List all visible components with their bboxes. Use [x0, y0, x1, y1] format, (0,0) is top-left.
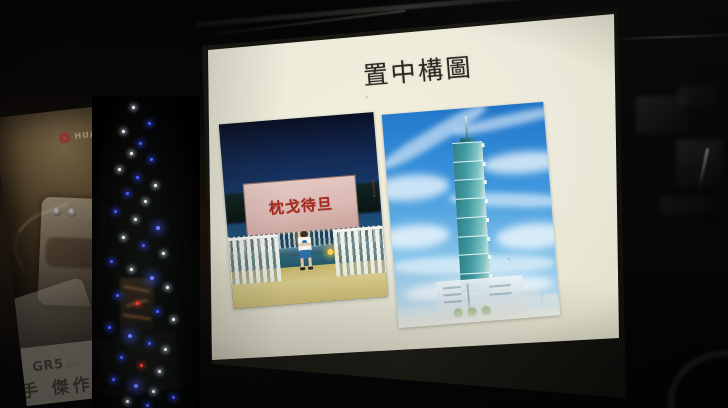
projection-screen-area: 置中構圖 枕戈待旦 民族精神堡壘	[190, 0, 630, 408]
tree-led	[148, 122, 151, 125]
screen-dust-speck	[366, 96, 368, 98]
screen-glare-spot	[550, 130, 552, 132]
tree-led	[108, 326, 111, 329]
tree-led	[152, 390, 155, 393]
tower-segment	[452, 141, 483, 161]
tree-led	[126, 400, 129, 403]
tree-led	[158, 370, 161, 373]
tree-led	[139, 142, 142, 145]
tower-segment	[458, 235, 489, 255]
person-shoe	[300, 267, 305, 270]
stone-balustrade-left	[225, 234, 281, 285]
tower-segment	[457, 216, 488, 236]
cloud	[382, 222, 451, 252]
tower-segment	[453, 160, 484, 180]
tree-led	[172, 396, 175, 399]
page-title: 置中構圖	[307, 43, 529, 97]
tree-led	[128, 334, 132, 338]
tree-led	[130, 152, 133, 155]
tree-led	[142, 244, 145, 247]
tree-led	[136, 302, 139, 305]
tree-led	[150, 158, 153, 161]
tree-led	[150, 276, 154, 280]
tree-led	[118, 168, 121, 171]
tree-led	[134, 384, 138, 388]
tree-led	[134, 218, 137, 221]
stone-balustrade-right	[333, 225, 388, 276]
tree-led	[122, 130, 125, 133]
cloud	[382, 172, 451, 204]
tower-segment	[456, 197, 487, 217]
tower-segment	[455, 179, 486, 199]
photo-scene: HUAWEI GR5 2017 手 傑作在手	[0, 0, 728, 408]
tree-led	[122, 236, 125, 239]
tree-led	[148, 342, 151, 345]
tree-led	[130, 268, 133, 271]
person-shoe	[308, 266, 313, 269]
tree-led	[140, 364, 143, 367]
tree-led	[132, 106, 135, 109]
huawei-flower-icon	[58, 131, 71, 143]
tree-led	[110, 260, 113, 263]
camera-lens-icon	[52, 207, 61, 216]
tree-led	[126, 192, 129, 195]
sign-text: 枕戈待旦	[268, 193, 333, 219]
tree-led	[162, 252, 165, 255]
tree-led	[156, 226, 160, 230]
tree-led	[112, 378, 115, 381]
tree-led	[114, 210, 117, 213]
tree-led	[164, 348, 167, 351]
cloud	[495, 220, 560, 252]
tree-led	[146, 404, 149, 407]
photo-centered-person: 枕戈待旦 民族精神堡壘	[219, 112, 388, 309]
tree-led	[136, 176, 139, 179]
tree-led	[154, 184, 157, 187]
background-object-4	[660, 196, 724, 214]
background-object-2	[678, 86, 718, 106]
tree-led	[144, 200, 147, 203]
photo-taipei-101	[382, 102, 561, 328]
tree-led	[120, 356, 123, 359]
tree-led	[156, 310, 159, 313]
tree-led	[116, 294, 119, 297]
tower-segment	[459, 254, 490, 274]
camera-lens-icon	[67, 208, 76, 217]
tree-ornament-box	[120, 278, 154, 334]
christmas-tree	[92, 96, 200, 408]
screen-dust-speck	[508, 258, 510, 260]
cloud	[481, 148, 560, 177]
tree-led	[166, 286, 169, 289]
tree-led	[172, 318, 175, 321]
